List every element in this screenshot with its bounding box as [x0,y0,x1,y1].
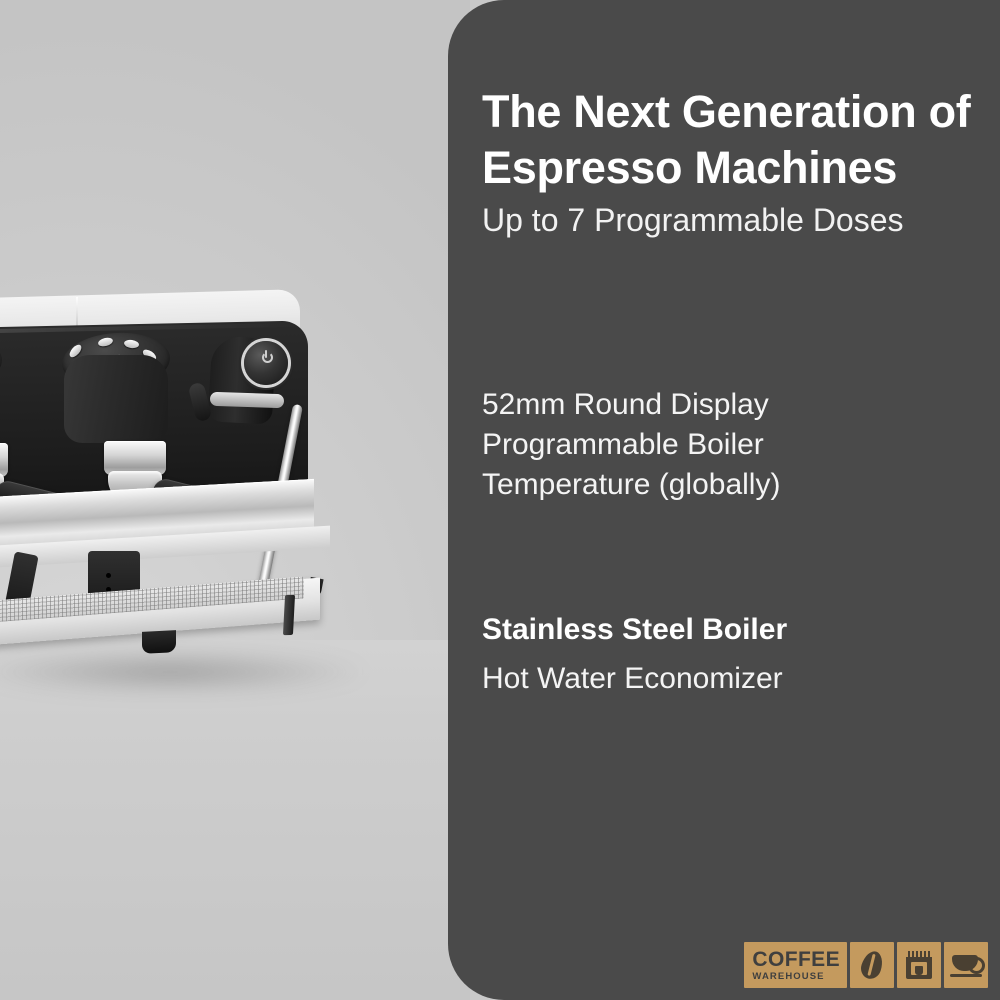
page-subtitle: Up to 7 Programmable Doses [482,200,982,241]
espresso-machine: 25 25 [0,295,440,685]
product-image-stage: 25 25 [0,0,470,1000]
drip-tray-edge [283,595,295,635]
spec-line-2: Programmable Boiler [482,425,982,465]
power-knob-icon [244,341,288,385]
coffee-bean-glyph [858,949,886,982]
dial-face-left [0,331,4,394]
feature-block: Stainless Steel Boiler Hot Water Economi… [482,610,982,698]
group-head-chrome-left [0,443,8,477]
brand-logo: COFFEE WAREHOUSE [744,942,988,988]
group-head-pod-right: 25 [58,327,176,447]
espresso-machine-icon [897,942,941,988]
brand-wordmark: COFFEE WAREHOUSE [744,942,847,988]
feature-title: Stainless Steel Boiler [482,610,982,649]
coffee-saucer-glyph [950,974,982,977]
headline-block: The Next Generation of Espresso Machines… [482,84,982,241]
group-head-pod-left: 25 [0,329,8,449]
spec-line-3: Temperature (globally) [482,465,982,505]
page-title: The Next Generation of Espresso Machines [482,84,982,196]
group-head-chrome-right [104,441,166,475]
espresso-machine-top-glyph [906,951,932,957]
coffee-bean-icon [850,942,894,988]
machine-leg-screws [106,573,111,578]
coffee-cup-glyph [952,955,978,971]
spec-block: 52mm Round Display Programmable Boiler T… [482,385,982,505]
feature-subtitle: Hot Water Economizer [482,659,982,698]
spec-line-1: 52mm Round Display [482,385,982,425]
brand-name-line2: WAREHOUSE [752,972,840,982]
machine-foot [142,630,176,654]
pod-body-right [64,355,168,443]
brand-name-line1: COFFEE [752,950,840,970]
coffee-cup-icon [944,942,988,988]
info-panel: The Next Generation of Espresso Machines… [448,0,1000,1000]
steam-wand-joint [210,392,284,409]
